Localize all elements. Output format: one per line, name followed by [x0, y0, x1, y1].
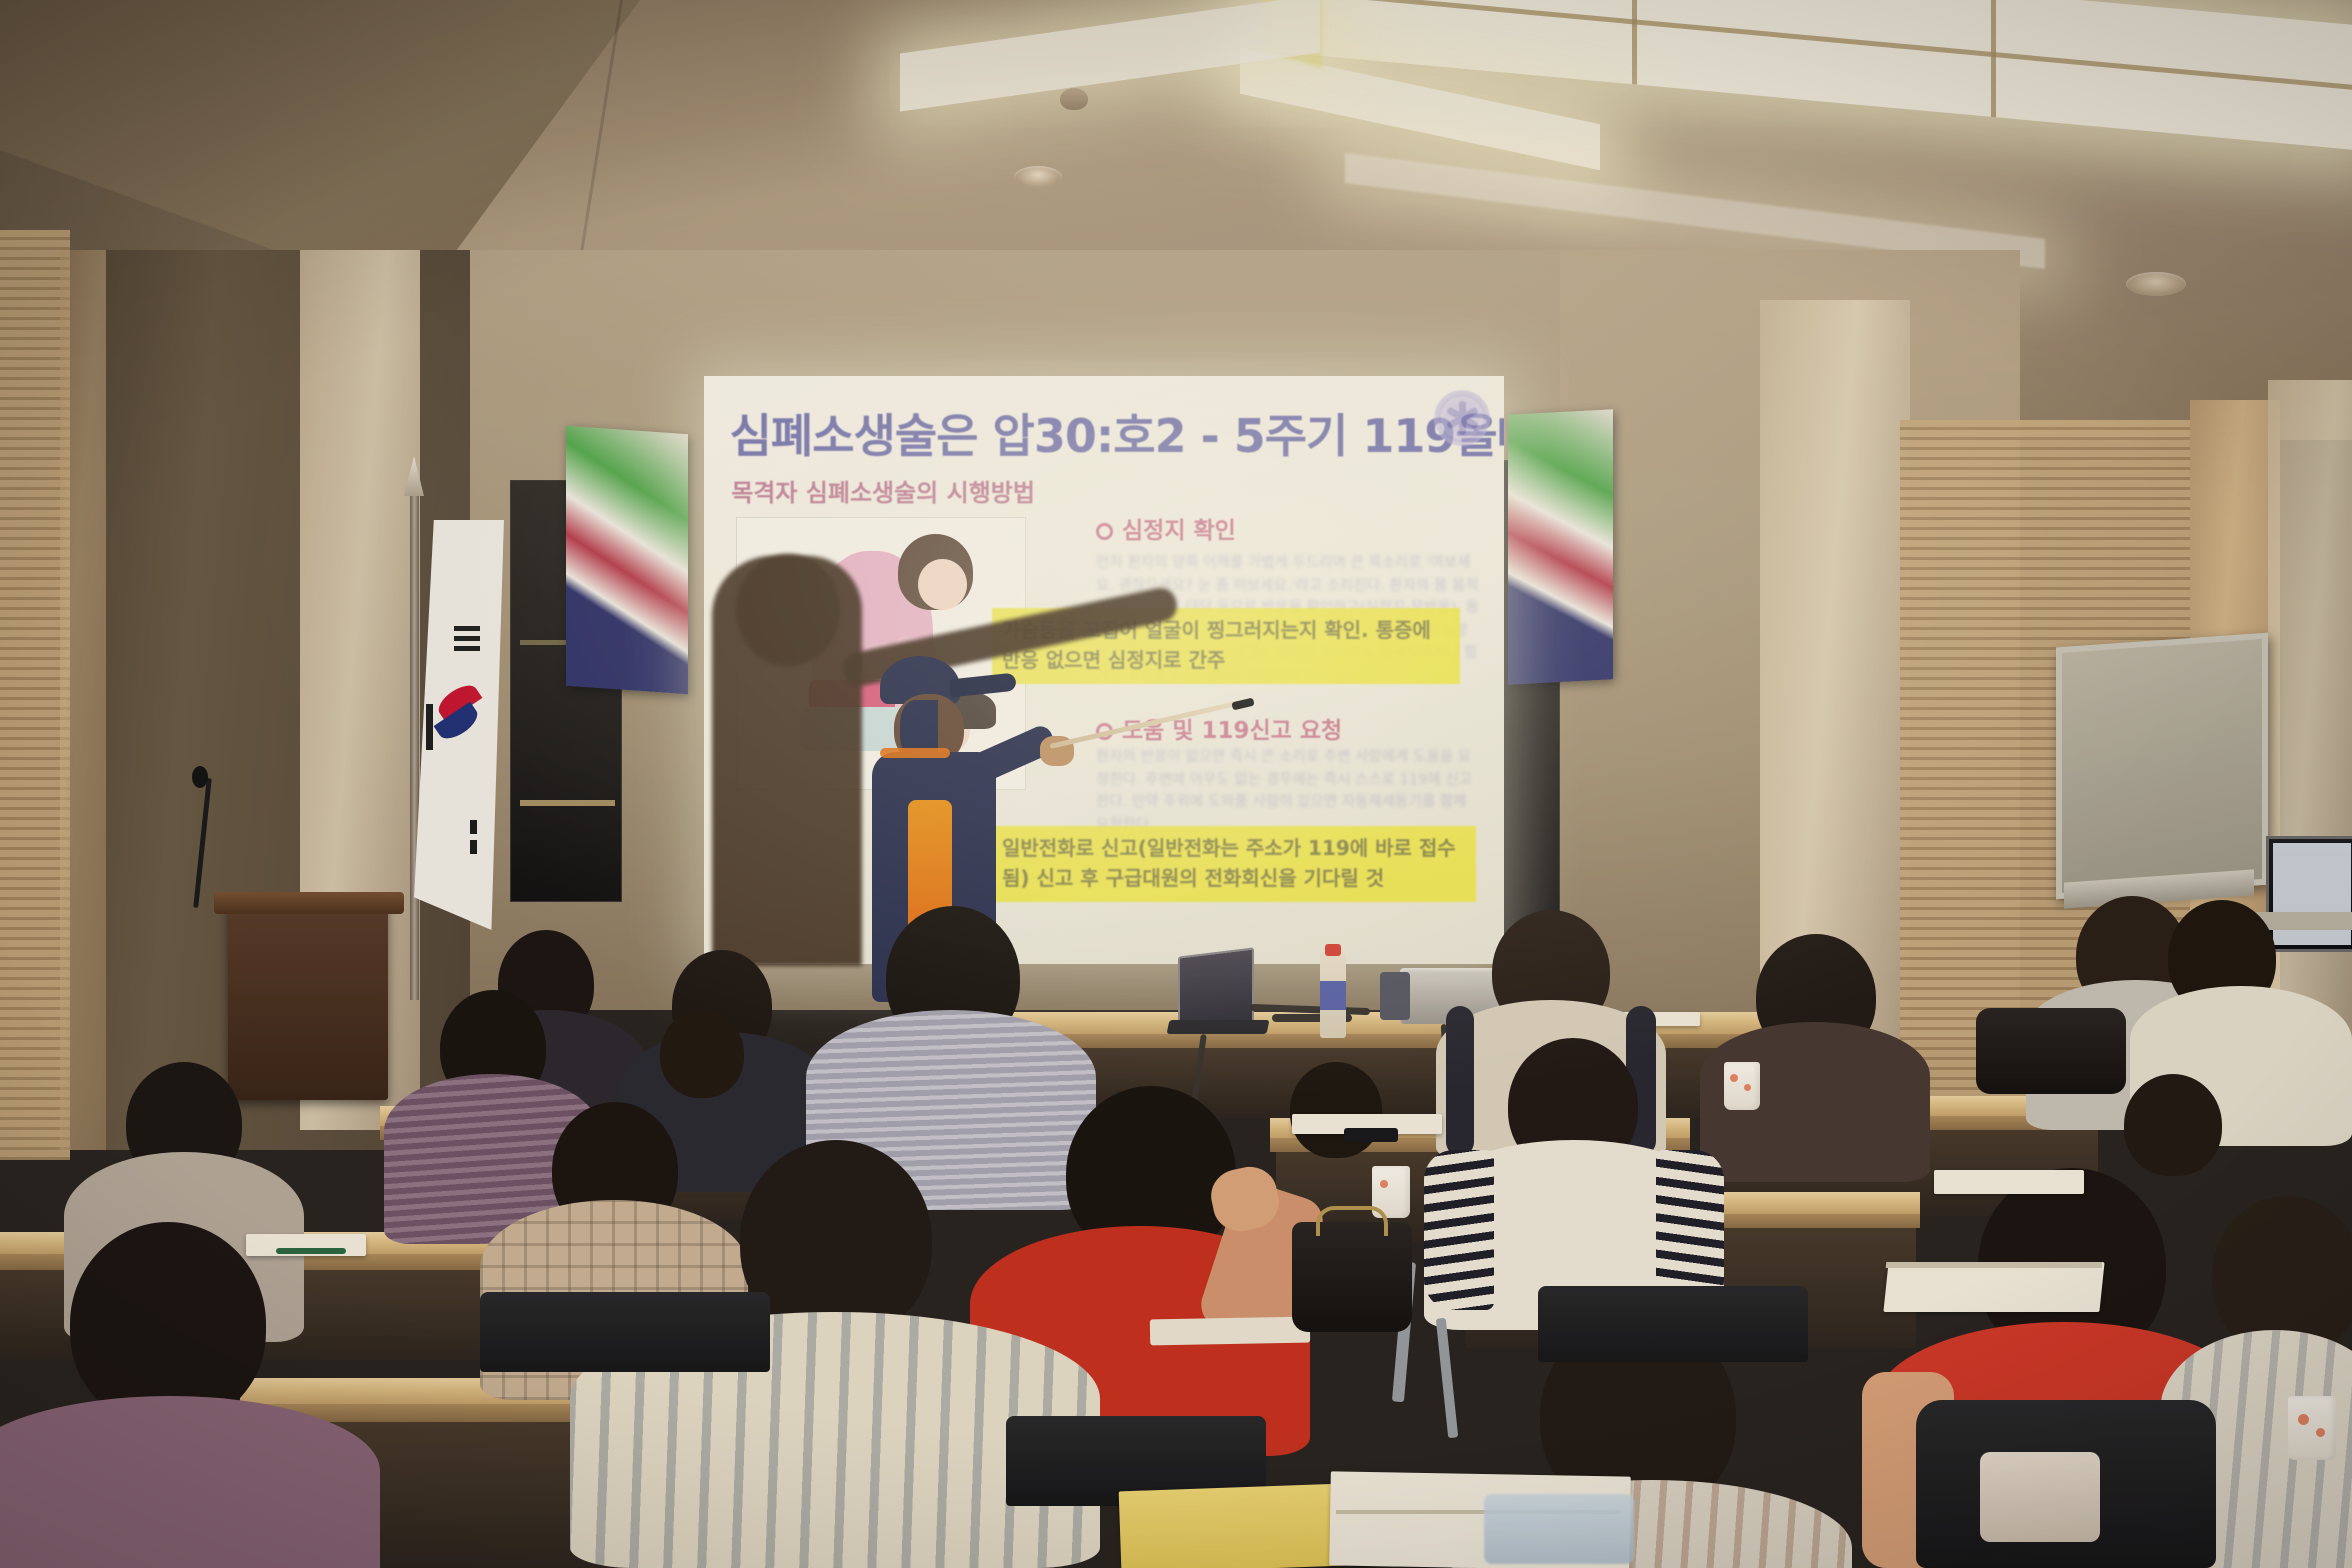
wall-monitor — [2266, 836, 2352, 952]
cabinet-trim — [520, 800, 615, 806]
microphone-icon — [192, 766, 208, 788]
chair-leg — [1436, 1318, 1458, 1438]
handbag[interactable] — [1292, 1222, 1412, 1332]
handbag[interactable] — [1976, 1008, 2126, 1094]
open-textbook[interactable] — [1934, 1170, 2084, 1194]
desk-papers[interactable] — [1150, 1317, 1310, 1346]
slide-subtitle: 목격자 심폐소생술의 시행방법 — [731, 473, 1035, 508]
left-wood-column — [60, 250, 106, 1150]
desk-pen[interactable] — [276, 1248, 346, 1254]
podium — [228, 900, 388, 1100]
attendee-head — [1290, 1062, 1382, 1158]
presenter-collar-trim — [880, 748, 950, 758]
attendee-sleeve-stripe — [1424, 1150, 1494, 1310]
textbook-pages — [1886, 1262, 2103, 1268]
star-of-life-icon — [1434, 390, 1490, 446]
slide-highlight-2: 일반전화로 신고(일반전화는 주소가 119에 바로 접수됨) 신고 후 구급대… — [992, 826, 1476, 902]
downlight-icon — [2126, 272, 2186, 296]
event-banner-left — [566, 426, 688, 695]
slide-section-body-2: 환자의 반응이 없으면 즉시 큰 소리로 주변 사람에게 도움을 요청한다. 주… — [1096, 746, 1480, 836]
laptop-base[interactable] — [1167, 1020, 1270, 1034]
whiteboard-panel — [2056, 633, 2268, 900]
chair-back — [1538, 1286, 1808, 1362]
attendee-head — [660, 1010, 744, 1098]
event-banner-right — [1508, 409, 1613, 685]
plastic-bag — [1484, 1494, 1634, 1564]
chair-back — [480, 1292, 770, 1372]
presenter-shadow-head — [736, 554, 840, 666]
slide-title: 심폐소생술은 압30:호2 - 5주기 119올때까지 — [730, 400, 1482, 466]
lecture-room-photo: 심폐소생술은 압30:호2 - 5주기 119올때까지 목격자 심폐소생술의 시… — [0, 0, 2352, 1568]
water-bottle[interactable] — [1320, 952, 1346, 1038]
open-textbook[interactable] — [1883, 1262, 2104, 1312]
podium-top — [214, 892, 404, 914]
downlight-icon — [1014, 166, 1062, 188]
paper-cup[interactable] — [2288, 1396, 2336, 1460]
sprinkler-icon — [1060, 88, 1088, 110]
slide-section-heading-1: 심정지 확인 — [1096, 511, 1236, 545]
attendee-sleeve-stripe — [1446, 1006, 1474, 1156]
paper-cup[interactable] — [1724, 1062, 1760, 1110]
bag-on-floor — [1980, 1452, 2100, 1542]
attendee-body — [0, 1396, 380, 1568]
attendee-head — [2124, 1074, 2222, 1176]
bullet-icon — [1096, 523, 1113, 540]
bottle-cap — [1325, 944, 1341, 956]
flag-pole — [410, 480, 419, 1000]
projector-lens — [1380, 972, 1410, 1020]
smartphone[interactable] — [1344, 1128, 1398, 1142]
